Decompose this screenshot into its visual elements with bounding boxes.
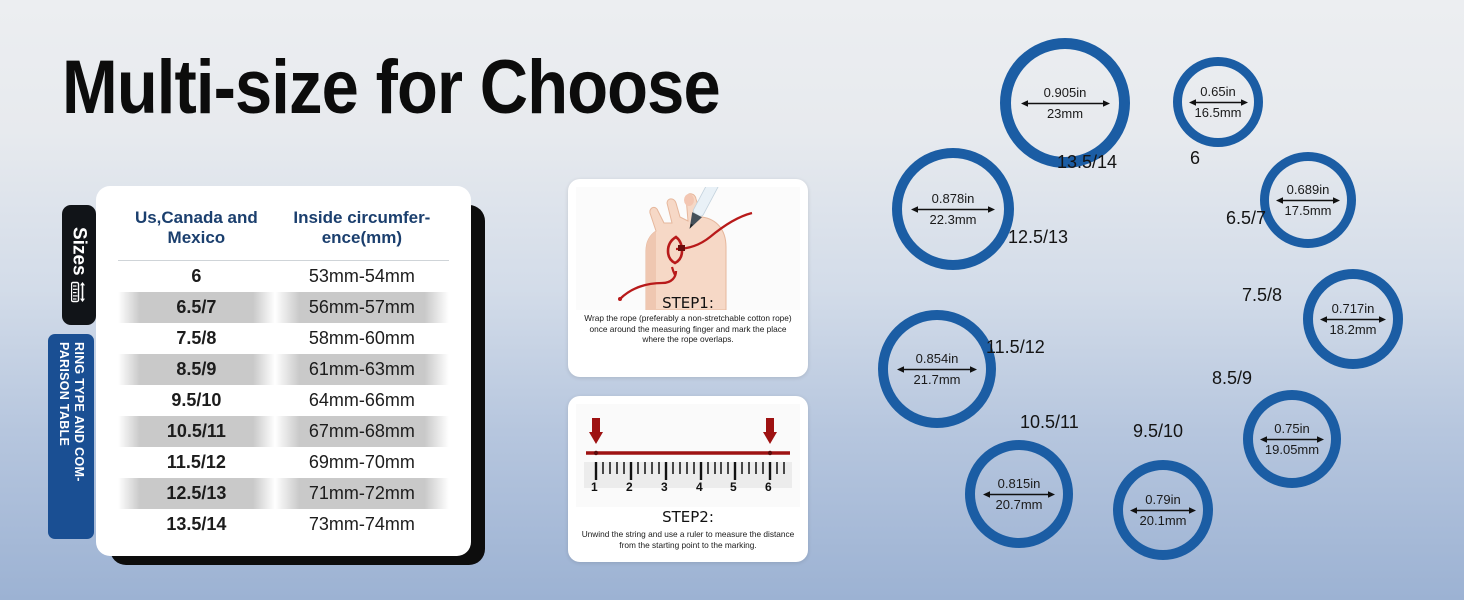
ruler-tick-label: 6 bbox=[765, 480, 772, 494]
ring-dimension-box: 0.689in17.5mm bbox=[1276, 183, 1340, 217]
table-cell-size: 12.5/13 bbox=[118, 478, 275, 509]
table-cell-size: 7.5/8 bbox=[118, 323, 275, 354]
ring-diameter-inches: 0.854in bbox=[916, 352, 959, 366]
ring-size-label: 12.5/13 bbox=[1008, 227, 1068, 248]
sidebar-tab-sizes-content: Sizes bbox=[70, 227, 89, 304]
table-row: 8.5/961mm-63mm bbox=[118, 354, 449, 385]
ring-size-circle: 0.75in19.05mm bbox=[1243, 390, 1341, 488]
ring-diameter-inches: 0.65in bbox=[1200, 85, 1235, 99]
ring-size-label: 8.5/9 bbox=[1212, 368, 1252, 389]
step2-image: 123456 bbox=[576, 404, 800, 507]
table-cell-circumference: 69mm-70mm bbox=[275, 447, 449, 478]
ring-size-circle: 0.815in20.7mm bbox=[965, 440, 1073, 548]
ruler-tick-label: 5 bbox=[730, 480, 737, 494]
ring-dimension-box: 0.854in21.7mm bbox=[897, 352, 977, 386]
table-cell-size: 10.5/11 bbox=[118, 416, 275, 447]
table-row: 653mm-54mm bbox=[118, 261, 449, 293]
ring-dimension-box: 0.717in18.2mm bbox=[1320, 302, 1386, 336]
ring-size-circle: 0.854in21.7mm bbox=[878, 310, 996, 428]
step1-label: STEP1: bbox=[576, 294, 800, 310]
sidebar-tab-sizes-label: Sizes bbox=[70, 227, 89, 276]
ring-size-label: 10.5/11 bbox=[1020, 412, 1079, 433]
ring-diameter-mm: 17.5mm bbox=[1285, 204, 1332, 218]
table-cell-circumference: 73mm-74mm bbox=[275, 509, 449, 540]
table-row: 9.5/1064mm-66mm bbox=[118, 385, 449, 416]
ring-size-circle: 0.905in23mm bbox=[1000, 38, 1130, 168]
ring-diameter-mm: 18.2mm bbox=[1330, 323, 1377, 337]
double-arrow-icon bbox=[1021, 100, 1110, 107]
double-arrow-icon bbox=[911, 206, 995, 213]
size-table: Us,Canada and Mexico Inside circumfer- e… bbox=[118, 202, 449, 540]
table-cell-size: 8.5/9 bbox=[118, 354, 275, 385]
step1-caption: Wrap the rope (preferably a non-stretcha… bbox=[576, 313, 800, 345]
ring-diameter-mm: 19.05mm bbox=[1265, 443, 1319, 457]
double-arrow-icon bbox=[1276, 197, 1340, 204]
ring-diameter-inches: 0.79in bbox=[1145, 493, 1180, 507]
ruler-tick-label: 2 bbox=[626, 480, 633, 494]
size-table-body: 653mm-54mm6.5/756mm-57mm7.5/858mm-60mm8.… bbox=[118, 261, 449, 541]
table-cell-size: 11.5/12 bbox=[118, 447, 275, 478]
table-cell-size: 6 bbox=[118, 261, 275, 293]
table-cell-circumference: 53mm-54mm bbox=[275, 261, 449, 293]
ring-size-label: 7.5/8 bbox=[1242, 285, 1282, 306]
table-row: 12.5/1371mm-72mm bbox=[118, 478, 449, 509]
table-row: 7.5/858mm-60mm bbox=[118, 323, 449, 354]
table-cell-circumference: 67mm-68mm bbox=[275, 416, 449, 447]
ring-diameter-inches: 0.75in bbox=[1274, 422, 1309, 436]
ring-dimension-box: 0.75in19.05mm bbox=[1260, 422, 1324, 456]
ring-diameter-mm: 20.7mm bbox=[996, 498, 1043, 512]
sidebar-tab-ring-line1: RING TYPE AND COM- bbox=[72, 342, 86, 482]
double-arrow-icon bbox=[897, 366, 977, 373]
ring-size-label: 13.5/14 bbox=[1057, 152, 1117, 173]
table-row: 13.5/1473mm-74mm bbox=[118, 509, 449, 540]
ring-diameter-inches: 0.905in bbox=[1044, 86, 1087, 100]
step2-card: 123456 STEP2: Unwind the string and use … bbox=[568, 396, 808, 562]
ring-size-circle: 0.878in22.3mm bbox=[892, 148, 1014, 270]
table-cell-size: 9.5/10 bbox=[118, 385, 275, 416]
double-arrow-icon bbox=[1320, 316, 1386, 323]
table-row: 10.5/1167mm-68mm bbox=[118, 416, 449, 447]
ring-diameter-inches: 0.878in bbox=[932, 192, 975, 206]
ring-size-label: 6 bbox=[1190, 148, 1200, 169]
ring-diameter-mm: 23mm bbox=[1047, 107, 1083, 121]
double-arrow-icon bbox=[1260, 436, 1324, 443]
ruler-tick-label: 4 bbox=[696, 480, 703, 494]
size-table-header-circumference: Inside circumfer- ence(mm) bbox=[275, 202, 449, 261]
ring-diameter-inches: 0.689in bbox=[1287, 183, 1330, 197]
ring-dimension-box: 0.878in22.3mm bbox=[911, 192, 995, 226]
table-row: 6.5/756mm-57mm bbox=[118, 292, 449, 323]
size-table-head: Us,Canada and Mexico Inside circumfer- e… bbox=[118, 202, 449, 261]
sidebar-tab-ring-line2: PARISON TABLE bbox=[57, 342, 71, 446]
ruler-tick-label: 3 bbox=[661, 480, 668, 494]
ring-diameter-mm: 16.5mm bbox=[1195, 106, 1242, 120]
ring-dimension-box: 0.815in20.7mm bbox=[983, 477, 1055, 511]
table-cell-size: 13.5/14 bbox=[118, 509, 275, 540]
size-table-header-us: Us,Canada and Mexico bbox=[118, 202, 275, 261]
sidebar-tab-ring-label: RING TYPE AND COM- PARISON TABLE bbox=[56, 342, 86, 532]
table-cell-circumference: 71mm-72mm bbox=[275, 478, 449, 509]
ring-diameter-mm: 21.7mm bbox=[914, 373, 961, 387]
ruler-tick-label: 1 bbox=[591, 480, 598, 494]
size-table-header-row: Us,Canada and Mexico Inside circumfer- e… bbox=[118, 202, 449, 261]
ring-size-label: 11.5/12 bbox=[986, 337, 1045, 358]
step1-card: STEP1: Wrap the rope (preferably a non-s… bbox=[568, 179, 808, 377]
ruler-tick-labels: 123456 bbox=[576, 480, 800, 498]
table-cell-size: 6.5/7 bbox=[118, 292, 275, 323]
ring-size-circle: 0.717in18.2mm bbox=[1303, 269, 1403, 369]
ring-diameter-mm: 20.1mm bbox=[1140, 514, 1187, 528]
step2-caption: Unwind the string and use a ruler to mea… bbox=[576, 529, 800, 550]
table-row: 11.5/1269mm-70mm bbox=[118, 447, 449, 478]
sidebar-tab-sizes[interactable]: Sizes bbox=[62, 205, 96, 325]
step1-image: STEP1: bbox=[576, 187, 800, 310]
ring-dimension-box: 0.65in16.5mm bbox=[1189, 85, 1248, 119]
ruler-arrow-icon bbox=[70, 281, 89, 303]
step2-label: STEP2: bbox=[576, 508, 800, 526]
ring-diameter-mm: 22.3mm bbox=[930, 213, 977, 227]
table-cell-circumference: 64mm-66mm bbox=[275, 385, 449, 416]
ring-diameter-inches: 0.815in bbox=[998, 477, 1041, 491]
sidebar-tab-ring-comparison-table[interactable]: RING TYPE AND COM- PARISON TABLE bbox=[48, 334, 94, 539]
ring-size-circle: 0.689in17.5mm bbox=[1260, 152, 1356, 248]
ring-dimension-box: 0.905in23mm bbox=[1021, 86, 1110, 120]
size-comparison-table-card: Us,Canada and Mexico Inside circumfer- e… bbox=[96, 186, 471, 556]
table-cell-circumference: 61mm-63mm bbox=[275, 354, 449, 385]
ring-diameter-inches: 0.717in bbox=[1332, 302, 1375, 316]
table-cell-circumference: 58mm-60mm bbox=[275, 323, 449, 354]
ring-size-label: 9.5/10 bbox=[1133, 421, 1183, 442]
table-cell-circumference: 56mm-57mm bbox=[275, 292, 449, 323]
ring-dimension-box: 0.79in20.1mm bbox=[1130, 493, 1196, 527]
double-arrow-icon bbox=[983, 491, 1055, 498]
double-arrow-icon bbox=[1130, 507, 1196, 514]
ring-size-label: 6.5/7 bbox=[1226, 208, 1266, 229]
ring-size-diagram: 9 sizes full coverage 0.905in23mm13.5/14… bbox=[860, 0, 1464, 600]
ring-size-circle: 0.65in16.5mm bbox=[1173, 57, 1263, 147]
ring-size-circle: 0.79in20.1mm bbox=[1113, 460, 1213, 560]
double-arrow-icon bbox=[1189, 99, 1248, 106]
page-title: Multi-size for Choose bbox=[62, 44, 720, 131]
